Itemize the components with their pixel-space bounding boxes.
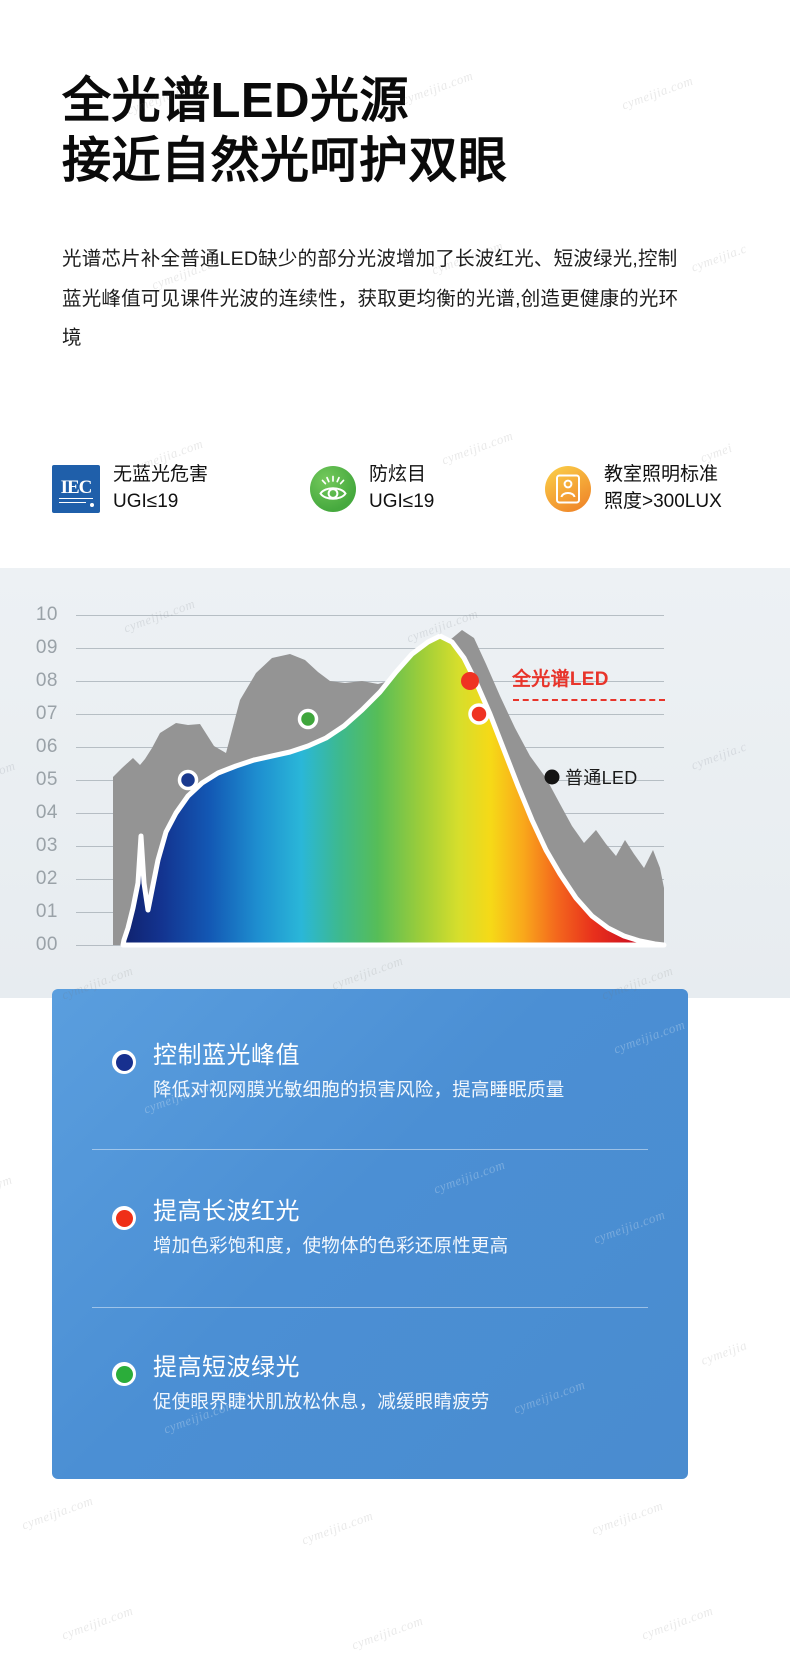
watermark: cymeijia.com — [60, 1603, 136, 1644]
intro-paragraph-block: 光谱芯片补全普通LED缺少的部分光波增加了长波红光、短波绿光,控制蓝光峰值可见课… — [62, 240, 682, 360]
feature-card: 控制蓝光峰值 降低对视网膜光敏细胞的损害风险，提高睡眠质量 提高长波红光 增加色… — [52, 989, 688, 1479]
watermark: cymeijia.com — [20, 1493, 96, 1534]
badge-2-line-2: UGI≤19 — [369, 489, 434, 516]
feature-divider-1 — [92, 1149, 648, 1150]
page-root: 全光谱LED光源 接近自然光呵护双眼 光谱芯片补全普通LED缺少的部分光波增加了… — [0, 0, 790, 1663]
iec-certification-icon: IEC — [52, 465, 100, 513]
chart-inner: 10 09 08 07 06 05 04 03 02 01 00 — [0, 568, 790, 998]
feature-item-green-light: 提高短波绿光 促使眼界睫状肌放松休息，减缓眼睛疲劳 — [112, 1353, 490, 1416]
red-lower-marker — [470, 705, 488, 723]
badge-1-line-1: 无蓝光危害 — [113, 464, 208, 485]
feature-3-title: 提高短波绿光 — [153, 1353, 490, 1383]
blue-peak-marker — [180, 772, 197, 789]
feature-bullet-blue-icon — [112, 1050, 136, 1074]
watermark: cymeijia.com — [350, 1613, 426, 1654]
watermark: cym — [0, 1172, 14, 1195]
badge-1-line-2: UGI≤19 — [113, 489, 208, 516]
watermark: cymeijia.com — [300, 1508, 376, 1549]
page-title: 全光谱LED光源 接近自然光呵护双眼 — [62, 72, 790, 192]
page-title-line-1: 全光谱LED光源 — [62, 74, 409, 128]
feature-1-desc: 降低对视网膜光敏细胞的损害风险，提高睡眠质量 — [153, 1076, 564, 1104]
spectrum-chart-panel: 10 09 08 07 06 05 04 03 02 01 00 — [0, 568, 790, 998]
green-marker — [300, 711, 317, 728]
feature-item-blue-peak: 控制蓝光峰值 降低对视网膜光敏细胞的损害风险，提高睡眠质量 — [112, 1041, 564, 1104]
badge-row: IEC 无蓝光危害 UGI≤19 — [52, 462, 752, 516]
watermark: cymeijia.com — [590, 1498, 666, 1539]
badge-2-line-1: 防炫目 — [369, 464, 426, 485]
normal-led-legend-label: 普通LED — [565, 764, 638, 790]
badge-anti-glare: 防炫目 UGI≤19 — [310, 462, 545, 516]
chart-markers — [0, 568, 790, 998]
anti-glare-eye-icon — [310, 466, 356, 512]
badge-classroom-lighting-standard: 教室照明标准 照度>300LUX — [545, 462, 722, 516]
page-title-line-2: 接近自然光呵护双眼 — [62, 132, 790, 192]
hero-section: 全光谱LED光源 接近自然光呵护双眼 — [0, 0, 790, 192]
watermark: cymeijia.com — [640, 1603, 716, 1644]
red-upper-marker — [461, 672, 479, 690]
watermark: cymeijia — [699, 1337, 750, 1368]
intro-paragraph: 光谱芯片补全普通LED缺少的部分光波增加了长波红光、短波绿光,控制蓝光峰值可见课… — [62, 240, 682, 360]
feature-1-title: 控制蓝光峰值 — [153, 1041, 564, 1071]
badge-3-line-2: 照度>300LUX — [604, 489, 722, 516]
full-spectrum-led-legend-label: 全光谱LED — [512, 664, 609, 691]
feature-item-red-light: 提高长波红光 增加色彩饱和度，使物体的色彩还原性更高 — [112, 1197, 508, 1260]
feature-3-desc: 促使眼界睫状肌放松休息，减缓眼睛疲劳 — [153, 1388, 490, 1416]
full-spectrum-led-legend-dash — [513, 699, 665, 701]
classroom-lighting-icon — [545, 466, 591, 512]
feature-2-desc: 增加色彩饱和度，使物体的色彩还原性更高 — [153, 1232, 508, 1260]
feature-bullet-green-icon — [112, 1362, 136, 1386]
feature-bullet-red-icon — [112, 1206, 136, 1230]
feature-2-title: 提高长波红光 — [153, 1197, 508, 1227]
watermark: cymeijia.c — [689, 241, 749, 276]
feature-divider-2 — [92, 1307, 648, 1308]
badge-3-line-1: 教室照明标准 — [604, 464, 718, 485]
badge-no-blue-light-hazard: IEC 无蓝光危害 UGI≤19 — [52, 462, 310, 516]
black-marker — [545, 770, 560, 785]
